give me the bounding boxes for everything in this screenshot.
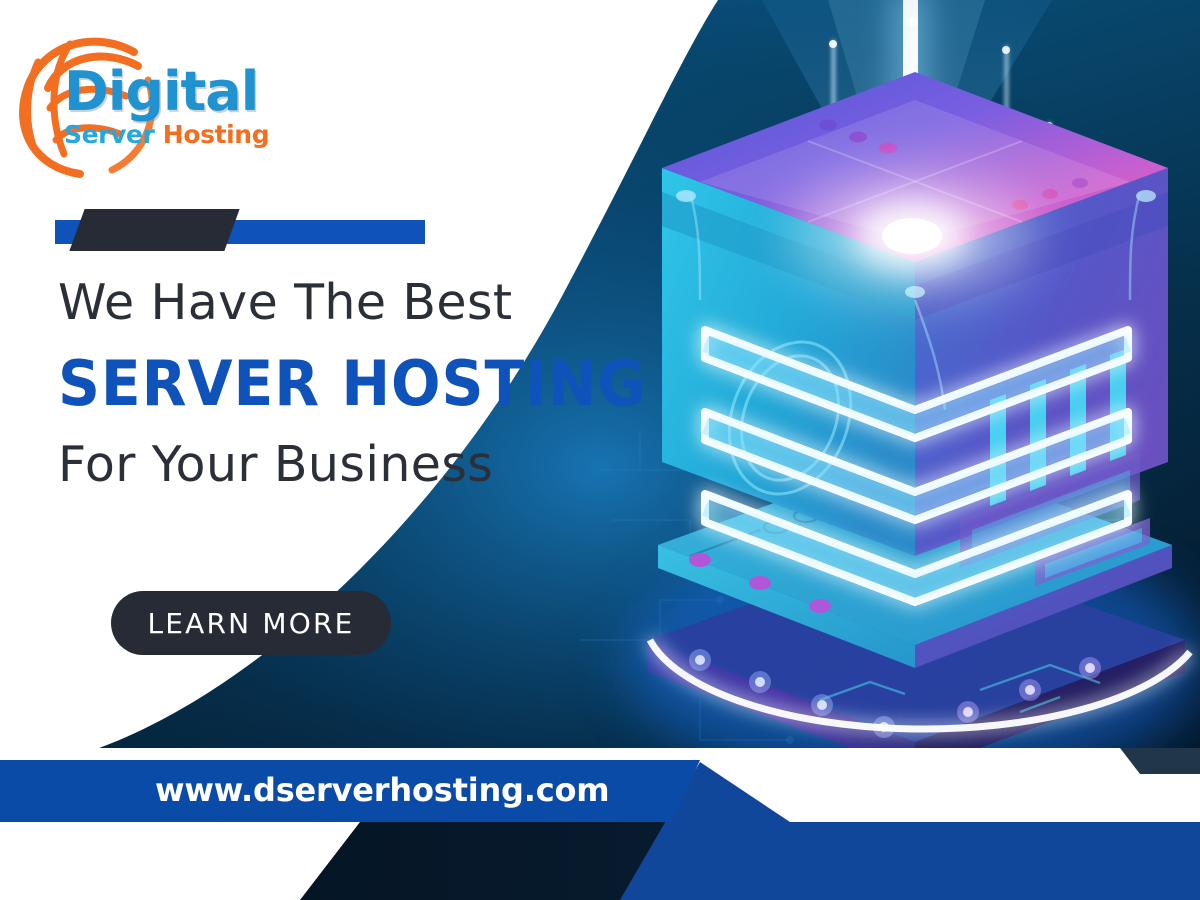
headline-decor-bar	[55, 208, 435, 252]
headline-line-1: We Have The Best	[58, 268, 618, 338]
footer-website-url[interactable]: www.dserverhosting.com	[155, 771, 609, 809]
logo-word-server: Server	[64, 120, 154, 149]
headline-line-3: For Your Business	[58, 430, 618, 500]
logo-word-digital: Digital	[64, 64, 274, 120]
brand-logo[interactable]: Digital Server Hosting	[8, 22, 268, 182]
logo-word-hosting: Hosting	[163, 120, 269, 149]
headline-line-2-accent: SERVER HOSTING	[58, 338, 584, 430]
logo-tagline: Server Hosting	[64, 121, 274, 149]
decor-bar-dark-parallelogram	[69, 209, 239, 251]
logo-wordmark: Digital Server Hosting	[64, 64, 274, 149]
hosting-promo-banner: Digital Server Hosting We Have The Best …	[0, 0, 1200, 900]
hero-headline: We Have The Best SERVER HOSTING For Your…	[58, 268, 618, 500]
learn-more-button[interactable]: LEARN MORE	[111, 591, 391, 655]
